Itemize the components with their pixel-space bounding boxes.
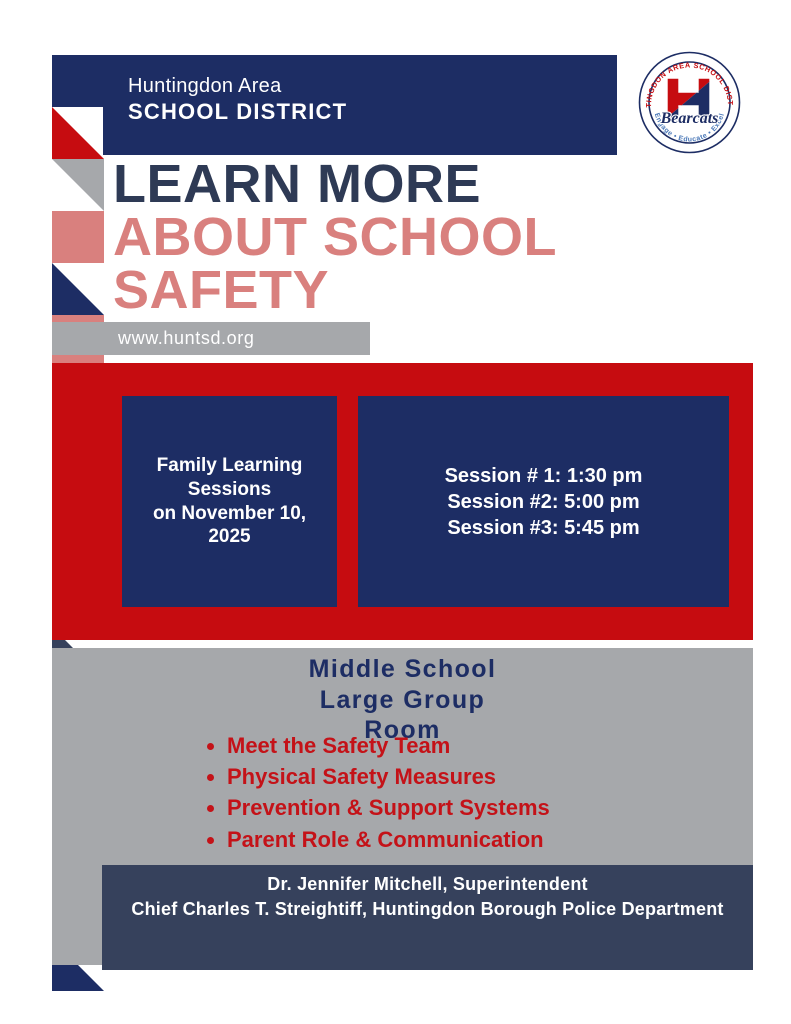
flyer-page: Huntingdon Area SCHOOL DISTRICT HUNTINGD… [0,0,791,1024]
website-url-text[interactable]: www.huntsd.org [118,328,254,349]
svg-text:Bearcats: Bearcats [660,110,719,127]
event-name-box: Family Learning Sessionson November 10, … [122,396,337,607]
session-times-list: Session # 1: 1:30 pmSession #2: 5:00 pmS… [445,463,643,541]
stripe-tile [52,211,104,263]
session-time-row: Session #2: 5:00 pm [445,489,643,515]
topic-list-item: Parent Role & Communication [200,824,720,855]
title-line-3: SAFETY [113,264,733,317]
stripe-tile [52,107,104,159]
stripe-tile [52,159,104,211]
bearcats-seal-icon: HUNTINGDON AREA SCHOOL DISTRICT Engage •… [637,50,742,155]
page-title: LEARN MORE ABOUT SCHOOL SAFETY [113,158,733,317]
stripe-tile [52,55,104,107]
topic-list-item: Prevention & Support Systems [200,792,720,823]
topic-list-item: Physical Safety Measures [200,761,720,792]
session-time-row: Session #3: 5:45 pm [445,515,643,541]
presenter-police-chief: Chief Charles T. Streightiff, Huntingdon… [102,899,753,920]
district-name-line1: Huntingdon Area [128,75,282,98]
event-name-text: Family Learning Sessionson November 10, … [122,454,337,549]
title-line-2: ABOUT SCHOOL [113,211,733,264]
presenters-footer: Dr. Jennifer Mitchell, Superintendent Ch… [102,865,753,970]
presenter-superintendent: Dr. Jennifer Mitchell, Superintendent [102,874,753,895]
website-url-bar[interactable]: www.huntsd.org [52,322,370,355]
venue-line-1: Middle School [52,654,753,685]
stripe-tile [52,263,104,315]
session-times-box: Session # 1: 1:30 pmSession #2: 5:00 pmS… [358,396,729,607]
venue-line-2: Large Group [52,685,753,716]
topics-list: Meet the Safety TeamPhysical Safety Meas… [200,730,720,855]
topic-list-item: Meet the Safety Team [200,730,720,761]
session-time-row: Session # 1: 1:30 pm [445,463,643,489]
title-line-1: LEARN MORE [113,158,733,211]
district-name-line2: SCHOOL DISTRICT [128,99,347,125]
district-header-bar: Huntingdon Area SCHOOL DISTRICT [103,55,617,155]
